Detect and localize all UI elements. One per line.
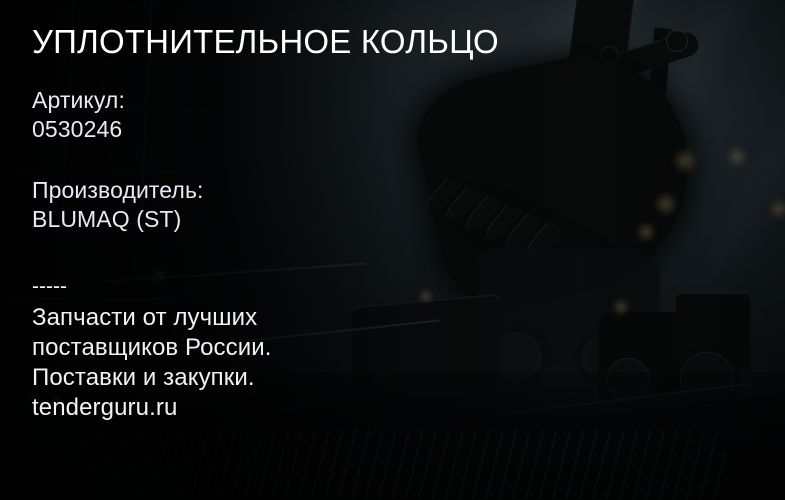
bokeh-light-4 (636, 222, 656, 242)
excavator-hydraulic-rod (638, 28, 671, 207)
promo-line-3: Поставки и закупки. (32, 363, 272, 393)
excavator-arm (551, 0, 639, 209)
product-banner: УПЛОТНИТЕЛЬНОЕ КОЛЬЦО Артикул: 0530246 П… (0, 0, 785, 500)
manufacturer-field: Производитель: BLUMAQ (ST) (32, 176, 204, 234)
text-divider: ----- (32, 276, 67, 297)
banner-content: УПЛОТНИТЕЛЬНОЕ КОЛЬЦО Артикул: 0530246 П… (32, 0, 552, 500)
article-value: 0530246 (32, 115, 125, 144)
manufacturer-value: BLUMAQ (ST) (32, 205, 204, 234)
promo-line-1: Запчасти от лучших (32, 303, 272, 333)
article-label: Артикул: (32, 86, 125, 115)
bokeh-light-2 (726, 146, 748, 168)
bokeh-light-3 (654, 192, 678, 216)
bokeh-light-1 (672, 148, 698, 174)
bokeh-light-6 (612, 298, 630, 316)
article-field: Артикул: 0530246 (32, 86, 125, 144)
tractor-wheel-rear (674, 346, 740, 412)
manufacturer-label: Производитель: (32, 176, 204, 205)
bokeh-light-5 (768, 198, 785, 220)
site-url[interactable]: tenderguru.ru (32, 393, 272, 423)
promo-text: Запчасти от лучших поставщиков России. П… (32, 303, 272, 423)
pivot-pin-mid (666, 30, 688, 52)
product-title: УПЛОТНИТЕЛЬНОЕ КОЛЬЦО (32, 24, 499, 61)
pivot-pin-lower (636, 156, 660, 180)
pivot-pin-upper (600, 46, 619, 65)
promo-line-2: поставщиков России. (32, 333, 272, 363)
